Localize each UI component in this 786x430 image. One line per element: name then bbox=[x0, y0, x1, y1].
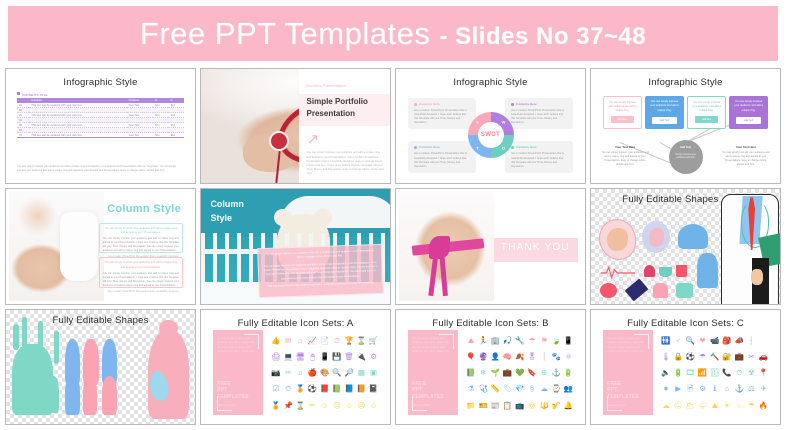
ecg-heartbeat-icon bbox=[599, 265, 637, 279]
timer-icon: ⏱ bbox=[736, 369, 742, 377]
sun-icon: ☀ bbox=[724, 402, 731, 410]
mother-silhouette-icon bbox=[102, 376, 117, 415]
embryo-icon bbox=[642, 221, 670, 253]
storm-cloud-icon: 🌩 bbox=[698, 402, 708, 410]
slide-thumbnail-3[interactable]: Infographic Style Contents Here Get a mo… bbox=[395, 68, 586, 184]
thermometer-icon: 🌡 bbox=[661, 353, 671, 361]
stopwatch-icon: ⏱ bbox=[285, 385, 291, 393]
panel-url: www.free-ppt.com bbox=[607, 405, 625, 407]
slide-8-content: Fully Editable Shapes bbox=[591, 189, 780, 303]
paw-icon: 🐾 bbox=[552, 353, 561, 361]
umbrella-icon: ☂ bbox=[699, 353, 706, 361]
bullet-dot-icon bbox=[414, 146, 417, 149]
notebook-icon: 📓 bbox=[369, 385, 378, 393]
slide-12-content: Fully Editable Icon Sets: C You can simp… bbox=[594, 313, 777, 421]
plug-icon: 🔌 bbox=[357, 353, 366, 361]
telephone-icon: 📞 bbox=[722, 369, 731, 377]
sprout-icon: 🌱 bbox=[491, 369, 500, 377]
thumbs-up-icon: 👍 bbox=[271, 337, 280, 345]
swot-card-opportunities: Contents Here Get a modern PowerPoint Pr… bbox=[505, 141, 573, 172]
slide-1-title: Infographic Style bbox=[9, 77, 192, 88]
watch-icon: ⌚ bbox=[552, 385, 561, 393]
scales-icon: ⚖ bbox=[748, 385, 755, 393]
bell-icon: 🔔 bbox=[564, 402, 573, 410]
image-icon: 🖻 bbox=[687, 385, 693, 393]
column-text-box-1: You can simply impress your audience and… bbox=[99, 223, 183, 253]
stethoscope-icon: 🩺 bbox=[478, 385, 487, 393]
swot-card-threats: Contents Here Get a modern PowerPoint Pr… bbox=[408, 141, 476, 172]
briefcase-icon: 💼 bbox=[503, 369, 512, 377]
battery-icon: 🔋 bbox=[564, 369, 573, 377]
mother-silhouette-icon bbox=[83, 376, 96, 415]
home-icon: ⌂ bbox=[725, 385, 730, 393]
monitor-icon: 🖥 bbox=[296, 353, 306, 361]
sun-cloud-icon: 🌥 bbox=[686, 402, 696, 410]
card-button[interactable]: Add Text bbox=[652, 117, 677, 124]
snowflake-icon: ❄ bbox=[480, 369, 486, 377]
cloud-icon: ☁ bbox=[540, 385, 548, 393]
slide-4-content: Infographic Style You can simply impress… bbox=[594, 72, 777, 180]
pin-icon: 📌 bbox=[283, 402, 292, 410]
radiation-icon: ☢ bbox=[748, 369, 755, 377]
medal-icon: 🏅 bbox=[271, 402, 280, 410]
tag-icon: 🏷 bbox=[503, 385, 513, 393]
leaf-icon: 🍃 bbox=[552, 337, 561, 345]
slide-thumbnail-4[interactable]: Infographic Style You can simply impress… bbox=[590, 68, 781, 184]
slide-thumbnail-12[interactable]: Fully Editable Icon Sets: C You can simp… bbox=[590, 309, 781, 425]
diagram-card-2: You can simply impress your audience and… bbox=[645, 96, 683, 129]
slide-2-heading: Simple Portfolio Presentation bbox=[307, 96, 385, 119]
ruler-icon: 📏 bbox=[491, 385, 500, 393]
slide-thumbnail-10[interactable]: Fully Editable Icon Sets: A You can simp… bbox=[200, 309, 391, 425]
anchor-icon: ⚓ bbox=[735, 385, 744, 393]
circle-icon: ○ bbox=[737, 402, 742, 410]
rain-cloud-icon: 🌧 bbox=[673, 402, 683, 410]
card-button[interactable]: Add Text bbox=[611, 116, 634, 123]
medal-icon: 🏅 bbox=[296, 385, 305, 393]
diagram-card-3: You can simply impress your audience and… bbox=[687, 96, 725, 129]
tea-cup-icon bbox=[659, 267, 672, 277]
swot-letter-o: O bbox=[502, 146, 505, 151]
folder-icon: 📁 bbox=[466, 402, 475, 410]
slide-5-content: Column Style You can simply impress your… bbox=[9, 192, 192, 300]
ribbon-icon: 🎖 bbox=[527, 353, 537, 361]
video-camera-icon: 📹 bbox=[710, 337, 719, 345]
slide-thumbnail-9[interactable]: Fully Editable Shapes bbox=[5, 309, 196, 425]
floppy-icon: 💾 bbox=[332, 353, 341, 361]
hourglass-icon: ⌛ bbox=[296, 402, 305, 410]
restroom-icon: 🚻 bbox=[661, 337, 670, 345]
slide-thumbnail-2[interactable]: Portfolio Presentation Simple Portfolio … bbox=[200, 68, 391, 184]
square-icon: ▣ bbox=[370, 369, 377, 377]
slide-11-title: Fully Editable Icon Sets: B bbox=[399, 318, 582, 329]
diagram-card-1: You can simply impress your audience and… bbox=[603, 96, 641, 129]
cart-icon: 🛒 bbox=[369, 337, 378, 345]
pregnant-woman-icon bbox=[653, 283, 668, 298]
panel-brand: FREE PPT TEMPLATES bbox=[412, 381, 444, 401]
slide-2-body: You can simply impress your audience and… bbox=[307, 151, 384, 176]
mountain-icon: ⛰ bbox=[712, 402, 718, 410]
ticket-icon: 🎫 bbox=[478, 402, 487, 410]
laptop-icon: 💻 bbox=[283, 353, 292, 361]
runner-icon: 🏃 bbox=[478, 337, 487, 345]
page-title-sub: - Slides No 37~48 bbox=[439, 23, 646, 50]
book-icon: 📙 bbox=[357, 385, 366, 393]
fire-icon: 🔥 bbox=[759, 402, 768, 410]
book-icon: 📗 bbox=[466, 369, 475, 377]
diagram-side-text-left: Your Text Here You can simply impress yo… bbox=[601, 145, 649, 167]
infographic-table: Contents Contents % % 01 This text can b… bbox=[17, 98, 184, 138]
card-button[interactable]: Add Text bbox=[695, 116, 718, 123]
battery-icon: 🔋 bbox=[673, 369, 682, 377]
exclamation-icon: ❕ bbox=[747, 337, 756, 345]
slide-6-text-box: You can simply impress your audience and… bbox=[257, 244, 383, 299]
cloud-icon: ☁ bbox=[662, 402, 670, 410]
swot-letter-t: T bbox=[476, 146, 478, 151]
clock-icon: ⏱ bbox=[334, 337, 340, 345]
headphone-cup-left bbox=[269, 131, 289, 151]
scissors-icon: ✂ bbox=[748, 353, 754, 361]
smiley-icon: ☺ bbox=[370, 402, 378, 410]
doctor-illustration bbox=[708, 189, 780, 303]
blood-cell-icon bbox=[600, 283, 617, 298]
slide-2-eyebrow: Portfolio Presentation bbox=[307, 84, 346, 88]
medical-cup-icon bbox=[644, 265, 655, 278]
phone-icon: 📱 bbox=[320, 353, 329, 361]
column-text-box-2: You can simply impress your audience and… bbox=[99, 257, 183, 287]
heart-icon: ❤ bbox=[699, 337, 705, 345]
panel-url: www.free-ppt.com bbox=[217, 405, 235, 407]
slide-thumbnail-5[interactable]: Column Style You can simply impress your… bbox=[5, 188, 196, 304]
baby-onesie-shape bbox=[60, 212, 98, 281]
thank-you-title: THANK YOU bbox=[501, 242, 570, 253]
chart-icon: 📈 bbox=[308, 337, 317, 345]
slide-thumbnail-7[interactable]: THANK YOU Insert the Sub Title of Your P… bbox=[395, 188, 586, 304]
flag-icon: ⚑ bbox=[541, 337, 548, 345]
atom-icon: ⚛ bbox=[565, 353, 572, 361]
icon-set-panel: You can simply impress your audience and… bbox=[603, 330, 652, 415]
ball-icon: ⚽ bbox=[308, 385, 317, 393]
printer-icon: 🖨 bbox=[271, 353, 281, 361]
icon-grid: ⛰ 🏃 🏢 🎣 🔧 ☂ ⚑ 🍃 📱 🎈 🔮 👤 🧠 🍂 🎖 ❕ bbox=[465, 332, 575, 413]
apple-icon: 🍎 bbox=[308, 369, 317, 377]
flask-icon: ⚗ bbox=[468, 385, 475, 393]
slide-1-note: You can simply impress your audience and… bbox=[17, 165, 184, 173]
location-pin-icon: 📍 bbox=[759, 369, 768, 377]
umbrella-icon: ☂ bbox=[529, 337, 536, 345]
film-icon: 🎞 bbox=[686, 369, 696, 377]
slide-6-content: Column Style You can simply impress your… bbox=[201, 189, 390, 303]
hourglass-icon: ⌛ bbox=[357, 337, 366, 345]
diamond-icon: 💎 bbox=[515, 385, 524, 393]
smiley-icon: ☺ bbox=[345, 402, 353, 410]
paper-plane-icon: ✈ bbox=[760, 385, 766, 393]
newspaper-icon: 📰 bbox=[491, 402, 500, 410]
mother-silhouette-icon bbox=[65, 374, 80, 415]
slide-2-text-panel: Portfolio Presentation Simple Portfolio … bbox=[299, 69, 390, 183]
balloon-icon: 🎈 bbox=[466, 353, 475, 361]
swot-letter-s: S bbox=[476, 120, 479, 125]
icon-grid: 🚻 ♂ 🔍 ❤ 📹 🎒 📣 ❕ 🌡 🔒 ⚽ ☂ 🔨 🔐 💼 bbox=[660, 332, 770, 413]
backpack-icon: 🎒 bbox=[722, 337, 731, 345]
envelope-icon: ✉ bbox=[285, 337, 291, 345]
mountain-icon: ⛰ bbox=[468, 337, 474, 345]
ribbon-bow-shape bbox=[429, 236, 450, 260]
thank-you-band: THANK YOU Insert the Sub Title of Your P… bbox=[494, 238, 578, 262]
trash-icon: 🗑 bbox=[344, 353, 354, 361]
plus-circle-icon: ⊕ bbox=[541, 369, 547, 377]
saxophone-icon: 🎷 bbox=[552, 402, 561, 410]
crystal-ball-icon: 🔮 bbox=[478, 353, 487, 361]
home-icon: ⌂ bbox=[298, 337, 303, 345]
panel-brand: FREE PPT TEMPLATES bbox=[607, 381, 639, 401]
slide-7-content: THANK YOU Insert the Sub Title of Your P… bbox=[399, 192, 582, 300]
gear-icon: ⚙ bbox=[370, 353, 377, 361]
megaphone-icon: 📣 bbox=[735, 337, 744, 345]
page-root: Free PPT Templates - Slides No 37~48 Inf… bbox=[0, 0, 786, 430]
swot-letter-w: W bbox=[502, 120, 506, 125]
briefcase-icon: 💼 bbox=[735, 353, 744, 361]
scissors-icon: ✂ bbox=[285, 369, 291, 377]
slide-3-content: Infographic Style Contents Here Get a mo… bbox=[399, 72, 582, 180]
tv-icon: 📺 bbox=[515, 402, 524, 410]
section-icon: § bbox=[530, 385, 534, 393]
checkbox-icon: ☑ bbox=[273, 385, 280, 393]
slide-thumbnail-1[interactable]: Infographic Style CONTENTS TITLE Content… bbox=[5, 68, 196, 184]
juice-glass-icon bbox=[676, 265, 687, 278]
bullet-dot-icon bbox=[511, 103, 514, 106]
panel-brand: FREE PPT TEMPLATES bbox=[217, 381, 249, 401]
hammer-icon: 🔨 bbox=[710, 353, 719, 361]
slide-5-title: Column Style bbox=[107, 203, 181, 215]
gear-icon: ⚙ bbox=[699, 385, 706, 393]
building-icon: 🏢 bbox=[491, 337, 500, 345]
slide-3-title: Infographic Style bbox=[399, 77, 582, 88]
slide-1-tag: CONTENTS TITLE bbox=[17, 92, 47, 97]
document-icon: 📄 bbox=[320, 337, 329, 345]
slide-4-title: Infographic Style bbox=[594, 77, 777, 88]
slide-12-title: Fully Editable Icon Sets: C bbox=[594, 318, 777, 329]
icon-set-panel: You can simply impress your audience and… bbox=[213, 330, 262, 415]
slides-grid: Infographic Style CONTENTS TITLE Content… bbox=[0, 66, 786, 430]
smiley-icon: ☹ bbox=[357, 402, 365, 410]
slide-11-content: Fully Editable Icon Sets: B You can simp… bbox=[399, 313, 582, 421]
anchor-icon: ⚓ bbox=[552, 369, 561, 377]
play-icon: ▶ bbox=[675, 385, 681, 393]
camera-icon: 📷 bbox=[271, 369, 280, 377]
hand-shape bbox=[751, 269, 763, 285]
gender-icon: ♂ bbox=[675, 337, 681, 345]
slide-10-title: Fully Editable Icon Sets: A bbox=[204, 318, 387, 329]
panel-url: www.free-ppt.com bbox=[412, 405, 430, 407]
wrench-icon: 🔧 bbox=[515, 337, 524, 345]
clipboard-icon: 📋 bbox=[503, 402, 512, 410]
slide-thumbnail-11[interactable]: Fully Editable Icon Sets: B You can simp… bbox=[395, 309, 586, 425]
ball-icon: ⚽ bbox=[686, 353, 695, 361]
diagram-card-4: You can simply impress your audience and… bbox=[729, 96, 767, 129]
person-icon: 👤 bbox=[491, 353, 500, 361]
magnifier-icon: 🔎 bbox=[345, 369, 354, 377]
trident-icon: 🔱 bbox=[540, 402, 549, 410]
slide-thumbnail-8[interactable]: Fully Editable Shapes bbox=[590, 188, 781, 304]
swot-diagram: Contents Here Get a modern PowerPoint Pr… bbox=[399, 96, 582, 174]
mouse-icon: 🖱 bbox=[310, 353, 315, 361]
table-row: 07 This text can be replaced with your o… bbox=[17, 133, 184, 138]
hub-diagram: You can simply impress your audience and… bbox=[594, 94, 777, 176]
search-icon: 🔍 bbox=[686, 337, 695, 345]
search-icon: 🔍 bbox=[332, 369, 341, 377]
music-note-icon: ♫ bbox=[298, 369, 304, 377]
slide-1-content: Infographic Style CONTENTS TITLE Content… bbox=[9, 72, 192, 180]
heart-baby-icon bbox=[148, 330, 190, 419]
record-icon: ⏺ bbox=[664, 385, 668, 393]
swot-center-label: SWOT bbox=[481, 132, 500, 138]
icon-grid: 👍 ✉ ⌂ 📈 📄 ⏱ 🏆 ⌛ 🛒 🖨 💻 🖥 🖱 📱 💾 🗑 bbox=[270, 332, 380, 413]
speaker-icon: 🔈 bbox=[661, 369, 670, 377]
fetus-in-womb-icon bbox=[599, 219, 637, 260]
device-icon: 📱 bbox=[564, 337, 573, 345]
fishing-icon: 🎣 bbox=[503, 337, 512, 345]
palette-icon: 🎨 bbox=[320, 369, 329, 377]
car-icon: 🚗 bbox=[759, 353, 768, 361]
leaf-icon: 🍂 bbox=[515, 353, 524, 361]
slide-10-content: Fully Editable Icon Sets: A You can simp… bbox=[204, 313, 387, 421]
open-hand-icon bbox=[12, 344, 54, 415]
drawer-icon: 🗄 bbox=[710, 369, 720, 377]
page-title-main: Free PPT Templates bbox=[140, 16, 430, 51]
arrow-up-right-icon: ↗ bbox=[307, 132, 320, 147]
people-icon: 👥 bbox=[564, 385, 573, 393]
at-sign-icon: @ bbox=[528, 402, 536, 410]
exclamation-icon: ❕ bbox=[540, 353, 549, 361]
diagram-side-text-right: Your Text Here You can simply impress yo… bbox=[722, 145, 770, 167]
thermometer-icon bbox=[625, 279, 648, 302]
bullet-dot-icon bbox=[511, 146, 514, 149]
pencil-icon: ✏ bbox=[309, 402, 315, 410]
slide-6-title: Column Style bbox=[210, 198, 244, 225]
icon-set-panel: You can simply impress your audience and… bbox=[408, 330, 457, 415]
padlock-icon: 🔐 bbox=[722, 353, 731, 361]
smiley-icon: ☺ bbox=[321, 402, 329, 410]
smiley-icon: ☹ bbox=[333, 402, 341, 410]
swot-card-weaknesses: Contents Here Get a modern PowerPoint Pr… bbox=[505, 98, 573, 129]
bookmark-icon: 🔖 bbox=[527, 369, 536, 377]
diagram-hub-circle: Add Text Simply impress your audience ad… bbox=[669, 140, 703, 174]
swot-card-strengths: Contents Here Get a modern PowerPoint Pr… bbox=[408, 98, 476, 129]
pregnant-woman-baby-clothes-photo bbox=[9, 192, 104, 300]
page-header: Free PPT Templates - Slides No 37~48 bbox=[8, 6, 778, 61]
bullet-dot-icon bbox=[414, 103, 417, 106]
page-title: Free PPT Templates - Slides No 37~48 bbox=[140, 16, 646, 52]
book-icon: 📘 bbox=[345, 385, 354, 393]
uterus-icon bbox=[678, 224, 708, 249]
brain-icon: 🧠 bbox=[503, 353, 512, 361]
book-icon: 📗 bbox=[332, 385, 341, 393]
mother-silhouette-icon bbox=[48, 376, 59, 413]
grid-icon: ▦ bbox=[358, 369, 365, 377]
slide-thumbnail-6[interactable]: Column Style You can simply impress your… bbox=[200, 188, 391, 304]
book-icon: 📕 bbox=[320, 385, 329, 393]
umbrella-icon: ☂ bbox=[748, 402, 755, 410]
heart-icon: 💚 bbox=[515, 369, 524, 377]
slide-9-content: Fully Editable Shapes bbox=[6, 310, 195, 424]
lock-icon: 🔒 bbox=[673, 353, 682, 361]
baby-icon bbox=[676, 283, 693, 298]
trophy-icon: 🏆 bbox=[345, 337, 354, 345]
thank-you-subtitle: Insert the Sub Title of Your Presentatio… bbox=[501, 253, 563, 257]
card-button[interactable]: Add Text bbox=[736, 117, 761, 124]
info-icon: ℹ bbox=[713, 385, 716, 393]
pregnant-belly-ribbon-photo bbox=[399, 192, 494, 300]
slide-2-content: Portfolio Presentation Simple Portfolio … bbox=[201, 69, 390, 183]
signal-icon: 📶 bbox=[698, 369, 707, 377]
